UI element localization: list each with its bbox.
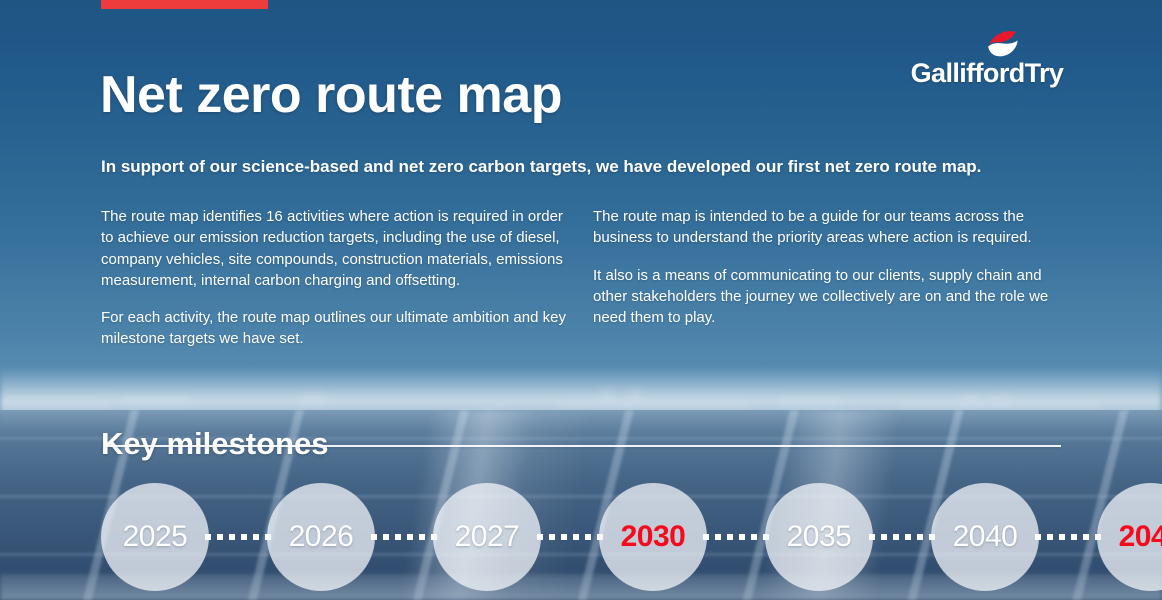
milestone-year-label: 2040 — [953, 520, 1018, 554]
slide-root: Net zero route map GalliffordTry In supp… — [0, 0, 1162, 600]
intro-lede: In support of our science-based and net … — [101, 157, 1091, 177]
timeline-connector — [869, 534, 935, 541]
milestone-node-2030[interactable]: 2030 — [599, 483, 707, 591]
logo-wordmark: GalliffordTry — [907, 58, 1067, 89]
milestone-timeline: 2025 2026 2027 2030 2035 2040 — [101, 481, 1064, 593]
timeline-connector — [537, 534, 603, 541]
milestone-year-label: 2026 — [289, 520, 354, 554]
leaf-swoosh-icon — [979, 30, 1025, 60]
accent-bar — [101, 0, 268, 9]
milestone-year-label: 2045 — [1119, 520, 1162, 554]
milestone-year-label: 2025 — [123, 520, 188, 554]
milestone-node-2027[interactable]: 2027 — [433, 483, 541, 591]
milestone-year-label: 2027 — [455, 520, 520, 554]
body-paragraph: It also is a means of communicating to o… — [593, 265, 1055, 329]
timeline-connector — [205, 534, 271, 541]
body-column-left: The route map identifies 16 activities w… — [101, 206, 571, 366]
section-title-key-milestones: Key milestones — [101, 426, 328, 462]
milestone-year-label: 2030 — [621, 520, 686, 554]
milestone-year-label: 2035 — [787, 520, 852, 554]
body-paragraph: The route map identifies 16 activities w… — [101, 206, 571, 291]
section-divider — [104, 445, 1061, 447]
company-logo: GalliffordTry — [907, 30, 1067, 100]
timeline-connector — [703, 534, 769, 541]
milestone-node-2035[interactable]: 2035 — [765, 483, 873, 591]
milestone-node-2040[interactable]: 2040 — [931, 483, 1039, 591]
timeline-connector — [1035, 534, 1101, 541]
milestone-node-2026[interactable]: 2026 — [267, 483, 375, 591]
page-title: Net zero route map — [100, 65, 562, 125]
timeline-connector — [371, 534, 437, 541]
body-paragraph: The route map is intended to be a guide … — [593, 206, 1055, 249]
milestone-node-2025[interactable]: 2025 — [101, 483, 209, 591]
body-column-right: The route map is intended to be a guide … — [593, 206, 1055, 344]
body-paragraph: For each activity, the route map outline… — [101, 307, 571, 350]
